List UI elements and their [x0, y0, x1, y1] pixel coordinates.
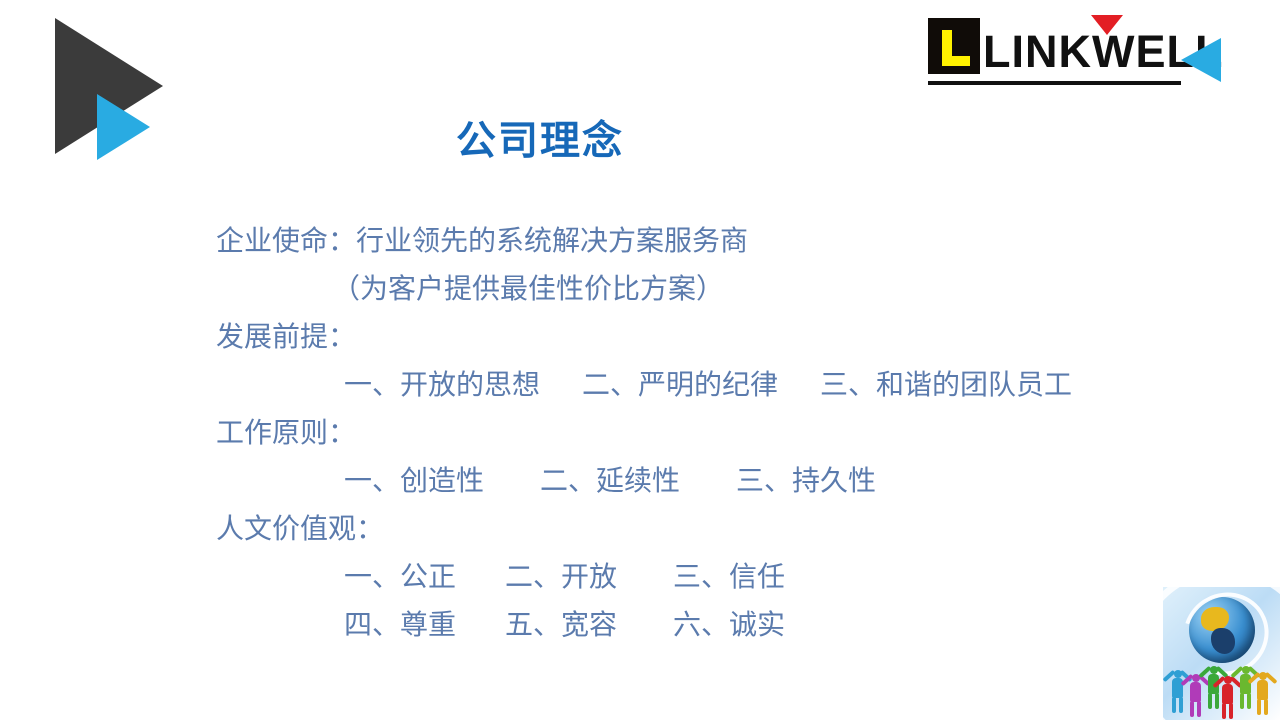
page-title: 公司理念	[0, 108, 1080, 166]
body-text-block: 企业使命：行业领先的系统解决方案服务商 （为客户提供最佳性价比方案） 发展前提：…	[216, 218, 1216, 650]
logo-blue-arrow-icon	[1181, 38, 1221, 82]
logo-mark-letter-foot	[942, 56, 970, 66]
person-figure	[1171, 670, 1184, 714]
text-line: （为客户提供最佳性价比方案）	[216, 266, 1216, 314]
text-line: 一、创造性 二、延续性 三、持久性	[216, 458, 1216, 506]
person-figure	[1256, 672, 1269, 716]
red-triangle-icon	[1091, 15, 1123, 35]
text-line: 一、公正 二、开放 三、信任	[216, 554, 1216, 602]
linkwell-logo: LINKWELL	[925, 12, 1245, 92]
text-line: 企业使命：行业领先的系统解决方案服务商	[216, 218, 1216, 266]
person-figure	[1189, 674, 1202, 718]
person-figure	[1221, 676, 1234, 720]
text-line: 发展前提：	[216, 314, 1216, 362]
text-line: 一、开放的思想 二、严明的纪律 三、和谐的团队员工	[216, 362, 1216, 410]
person-figure	[1207, 666, 1220, 710]
person-figure	[1239, 666, 1252, 710]
globe-with-people-image	[1163, 587, 1280, 720]
text-line: 四、尊重 五、宽容 六、诚实	[216, 602, 1216, 650]
slide-canvas: LINKWELL 公司理念 企业使命：行业领先的系统解决方案服务商 （为客户提供…	[0, 0, 1280, 720]
logo-underline	[928, 81, 1181, 85]
text-line: 人文价值观：	[216, 506, 1216, 554]
text-line: 工作原则：	[216, 410, 1216, 458]
logo-mark-box	[928, 18, 980, 74]
